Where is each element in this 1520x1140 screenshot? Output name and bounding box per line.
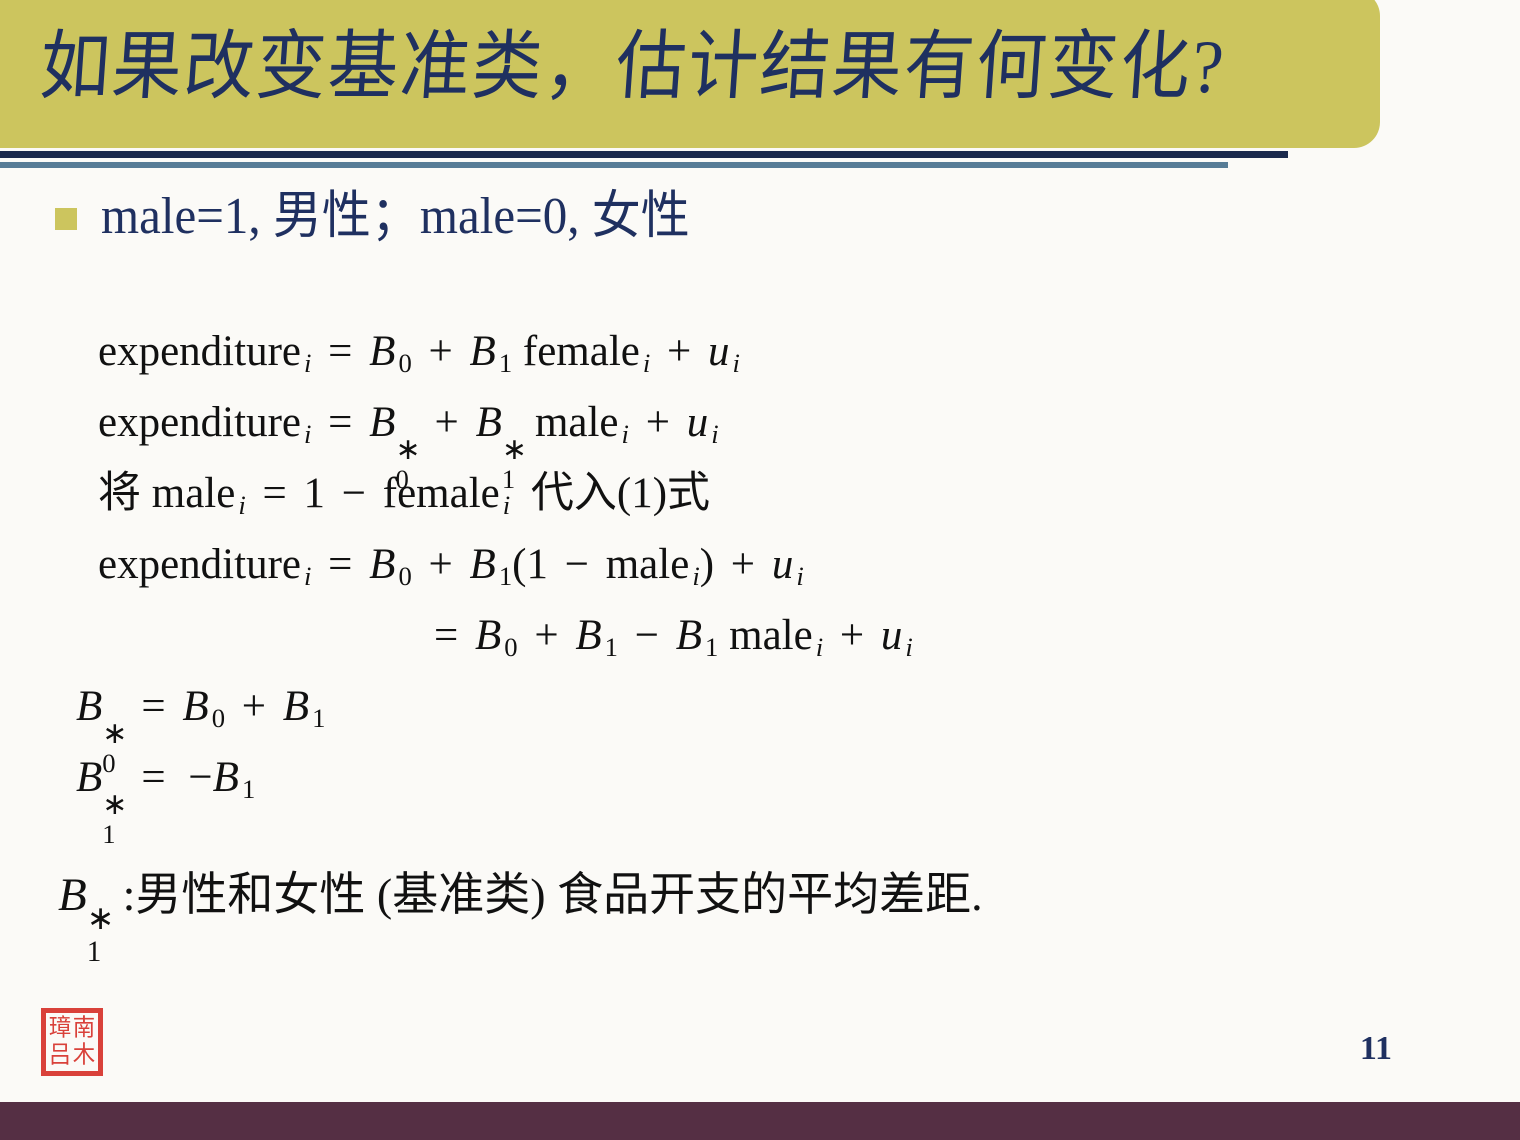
equation-line-5: = B0 + B1 − B1 malei + ui: [98, 600, 1398, 671]
eq1-b0-sub: 0: [395, 348, 411, 378]
eq4-b0: B: [369, 541, 395, 588]
eq2-plus: +: [429, 399, 465, 446]
equation-line-2: expenditurei = B∗0 + B∗1 malei + ui: [98, 387, 1398, 458]
eq6-plus: +: [236, 683, 272, 730]
eq4-minus: −: [559, 541, 595, 588]
eq4-equals: =: [322, 541, 358, 588]
page-number: 11: [1360, 1030, 1392, 1068]
eq4-lhs-sub: i: [301, 561, 311, 591]
eq5-equals: =: [428, 612, 464, 659]
equation-line-3: 将 malei = 1 − femalei 代入(1)式: [98, 458, 1398, 529]
eq4-b0-sub: 0: [395, 561, 411, 591]
eq2-b1star: B∗1: [476, 387, 525, 458]
eq2-b0star: B∗0: [369, 387, 418, 458]
eq5-b0-sub: 0: [501, 632, 517, 662]
bullet-text: male=1, 男性；male=0, 女性: [101, 184, 690, 248]
eq2-b0-sub: 0: [395, 444, 408, 515]
eq1-u-sub: i: [730, 348, 740, 378]
conclusion-symbol: B∗1: [58, 862, 111, 928]
eq4-var: male: [606, 541, 690, 588]
eq5-var: male: [729, 612, 813, 659]
eq3-var: male: [152, 470, 236, 517]
eq1-var-sub: i: [640, 348, 650, 378]
conclusion-b-letter: B: [58, 869, 87, 921]
eq3-var-sub: i: [235, 490, 245, 520]
eq6-b0: B: [182, 683, 208, 730]
eq5-u: u: [881, 612, 903, 659]
eq3-equals: =: [256, 470, 292, 517]
seal-char-3: 吕: [47, 1040, 73, 1071]
eq2-lhs-sub: i: [301, 419, 311, 449]
eq4-lhs: expenditure: [98, 541, 301, 588]
eq2-plus2: +: [640, 399, 676, 446]
eq5-b1-sub: 1: [602, 632, 618, 662]
eq6-b0-sub2: 0: [209, 703, 225, 733]
conclusion-sub: 1: [87, 919, 102, 985]
eq3-minus: −: [336, 470, 372, 517]
eq2-b0-letter: B: [369, 399, 395, 446]
title-banner: 如果改变基准类，估计结果有何变化?: [0, 0, 1380, 148]
eq1-lhs: expenditure: [98, 328, 301, 375]
eq7-b1: B: [213, 754, 239, 801]
eq1-var: female: [523, 328, 640, 375]
eq5-b1b: B: [676, 612, 702, 659]
eq2-equals: =: [322, 399, 358, 446]
eq4-plus: +: [423, 541, 459, 588]
conclusion-text: :男性和女性 (基准类) 食品开支的平均差距.: [111, 869, 982, 920]
equation-block: expenditurei = B0 + B1 femalei + ui expe…: [98, 316, 1398, 813]
eq7-b1-sub2: 1: [239, 774, 255, 804]
eq4-b1-sub: 1: [496, 561, 512, 591]
eq6-b0-letter: B: [76, 683, 102, 730]
eq7-b1-letter: B: [76, 754, 102, 801]
eq2-var-sub: i: [619, 419, 629, 449]
page-title: 如果改变基准类，估计结果有何变化?: [36, 12, 1344, 124]
eq4-var-sub: i: [689, 561, 699, 591]
eq2-lhs: expenditure: [98, 399, 301, 446]
eq1-equals: =: [322, 328, 358, 375]
eq2-b1-letter: B: [476, 399, 502, 446]
eq4-one: 1: [526, 541, 548, 588]
eq5-var-sub: i: [813, 632, 823, 662]
eq3-suffix: 代入(1)式: [521, 470, 710, 517]
bottom-bar: [0, 1102, 1520, 1140]
eq4-b1: B: [470, 541, 496, 588]
divider-rule-navy: [0, 151, 1288, 158]
eq3-one: 1: [304, 470, 326, 517]
eq5-plus2: +: [834, 612, 870, 659]
seal-character-grid: 璋 南 吕 木: [49, 1016, 95, 1068]
eq7-equals: =: [135, 754, 171, 801]
eq5-b1b-sub: 1: [702, 632, 718, 662]
eq4-u: u: [772, 541, 794, 588]
eq7-b1star: B∗1: [76, 742, 125, 813]
equation-line-7: B∗1 = −B1: [76, 742, 1398, 813]
eq1-b1: B: [470, 328, 496, 375]
eq1-b0: B: [369, 328, 395, 375]
slide-canvas: 如果改变基准类，估计结果有何变化? male=1, 男性；male=0, 女性 …: [0, 0, 1520, 1140]
eq2-u: u: [687, 399, 709, 446]
eq7-b1-sub: 1: [102, 799, 115, 870]
square-bullet-icon: [55, 208, 77, 230]
bullet-row: male=1, 男性；male=0, 女性: [55, 186, 690, 246]
eq5-b1: B: [575, 612, 601, 659]
eq1-b1-sub: 1: [496, 348, 512, 378]
eq6-equals: =: [135, 683, 171, 730]
eq4-plus2: +: [725, 541, 761, 588]
equation-line-1: expenditurei = B0 + B1 femalei + ui: [98, 316, 1398, 387]
eq4-close-paren: ): [700, 541, 714, 588]
eq1-plus2: +: [661, 328, 697, 375]
equation-line-4: expenditurei = B0 + B1(1 − malei) + ui: [98, 529, 1398, 600]
eq4-open-paren: (: [512, 541, 526, 588]
conclusion-sentence: B∗1 :男性和女性 (基准类) 食品开支的平均差距.: [58, 862, 983, 928]
eq2-u-sub: i: [708, 419, 718, 449]
eq6-b1-sub: 1: [309, 703, 325, 733]
eq5-minus: −: [629, 612, 665, 659]
eq7-minus: −: [182, 754, 212, 801]
eq5-u-sub: i: [902, 632, 912, 662]
eq6-b1: B: [283, 683, 309, 730]
seal-char-4: 木: [71, 1040, 97, 1071]
divider-rule-steel: [0, 162, 1228, 168]
eq3-prefix: 将: [98, 470, 141, 517]
eq5-plus: +: [528, 612, 564, 659]
eq2-var: male: [535, 399, 619, 446]
eq5-b0: B: [475, 612, 501, 659]
eq1-lhs-sub: i: [301, 348, 311, 378]
eq1-plus: +: [423, 328, 459, 375]
red-seal-logo: 璋 南 吕 木: [41, 1008, 103, 1076]
eq4-u-sub: i: [793, 561, 803, 591]
eq6-b0star: B∗0: [76, 671, 125, 742]
eq2-b1-sub: 1: [502, 444, 515, 515]
equation-line-6: B∗0 = B0 + B1: [76, 671, 1398, 742]
eq1-u: u: [708, 328, 730, 375]
